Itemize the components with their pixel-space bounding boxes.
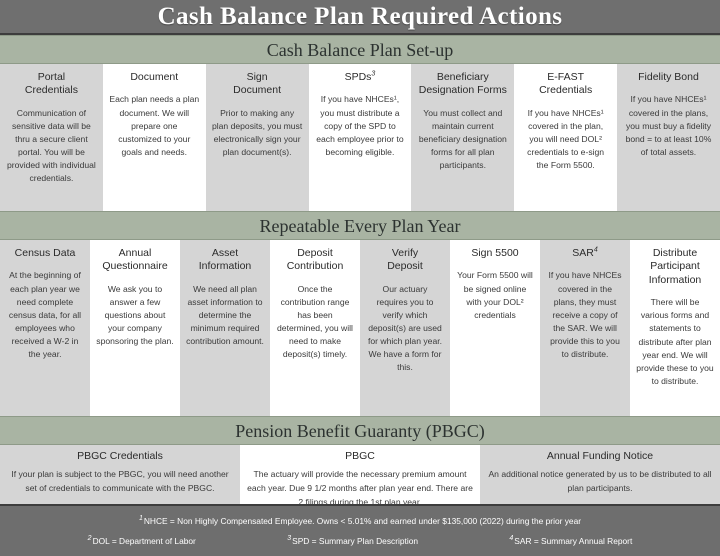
card-body-text: Our actuary requires you to verify which… [366,283,444,374]
card-title: Annual Funding Notice [486,450,714,463]
card-title: Verify Deposit [366,247,444,274]
card-body-text: If your plan is subject to the PBGC, you… [6,468,234,496]
card-body-text: Each plan needs a plan document. We will… [109,93,200,158]
section-header-3: Pension Benefit Guaranty (PBGC) [0,416,720,445]
footnote-line-secondary: 2DOL = Department of Labor 3SPD = Summar… [0,537,720,545]
card-title-text: Annual Funding Notice [547,450,653,462]
action-card[interactable]: Deposit ContributionOnce the contributio… [270,240,360,416]
card-title: Document [109,71,200,84]
card-title-superscript: 4 [594,247,598,254]
card-body-text: Prior to making any plan deposits, you m… [212,107,303,159]
card-title-text: E-FAST Credentials [539,71,592,96]
action-card[interactable]: Distribute Participant InformationThere … [630,240,720,416]
card-title: Sign Document [212,71,303,98]
card-title: E-FAST Credentials [520,71,611,98]
action-card[interactable]: Verify DepositOur actuary requires you t… [360,240,450,416]
card-title-text: Document [130,71,178,83]
footnote-text: SPD = Summary Plan Description [292,536,418,546]
card-title: Fidelity Bond [623,71,714,84]
card-body-text: If you have NHCEs covered in the plans, … [546,269,624,360]
footnote-item-sar: 4SAR = Summary Annual Report [509,537,632,545]
card-body-text: Your Form 5500 will be signed online wit… [456,269,534,321]
footnote-text: SAR = Summary Annual Report [514,536,632,546]
card-body-text: We ask you to answer a few questions abo… [96,283,174,348]
infographic-page: Cash Balance Plan Required Actions Cash … [0,0,720,556]
footnote-text: NHCE = Non Highly Compensated Employee. … [144,516,581,526]
card-title-text: PBGC [345,450,375,462]
section-header-2: Repeatable Every Plan Year [0,211,720,240]
action-card[interactable]: Beneficiary Designation FormsYou must co… [411,64,514,211]
footnote-item-dol: 2DOL = Department of Labor [88,537,196,545]
card-body-text: If you have NHCEs¹ covered in the plan, … [520,107,611,172]
footnotes-bar: 1NHCE = Non Highly Compensated Employee.… [0,504,720,556]
card-row-2: Census DataAt the beginning of each plan… [0,240,720,416]
card-body-text: If you have NHCEs¹ covered in the plans,… [623,93,714,158]
card-title-text: Verify Deposit [387,247,423,272]
card-title-text: Sign 5500 [471,247,518,259]
card-title: SAR4 [546,247,624,260]
card-title-text: Distribute Participant Information [649,247,702,286]
card-title-text: Fidelity Bond [638,71,699,83]
footnote-line-primary: 1NHCE = Non Highly Compensated Employee.… [0,517,720,536]
card-body-text: An additional notice generated by us to … [486,468,714,496]
card-title-text: SAR [572,247,594,259]
card-title-text: Asset Information [199,247,252,272]
card-title-text: Beneficiary Designation Forms [419,71,507,96]
card-body-text: If you have NHCEs¹, you must distribute … [315,93,406,158]
action-card[interactable]: Asset InformationWe need all plan asset … [180,240,270,416]
card-title: Sign 5500 [456,247,534,260]
card-title: PBGC [246,450,474,463]
card-title: PBGC Credentials [6,450,234,463]
action-card[interactable]: Census DataAt the beginning of each plan… [0,240,90,416]
card-title-text: SPDs [345,71,372,83]
footnote-item-spd: 3SPD = Summary Plan Description [287,537,418,545]
footnote-item-nhce: 1NHCE = Non Highly Compensated Employee.… [139,516,581,526]
card-title: SPDs3 [315,71,406,84]
card-body-text: We need all plan asset information to de… [186,283,264,348]
card-row-1: Portal CredentialsCommunication of sensi… [0,64,720,211]
page-title: Cash Balance Plan Required Actions [158,4,563,29]
card-title-text: PBGC Credentials [77,450,163,462]
card-title: Deposit Contribution [276,247,354,274]
section-heading: Repeatable Every Plan Year [260,217,461,235]
card-title-text: Portal Credentials [25,71,78,96]
sections-container: Cash Balance Plan Set-upPortal Credentia… [0,35,720,515]
card-title: Distribute Participant Information [636,247,714,287]
card-title: Asset Information [186,247,264,274]
page-title-bar: Cash Balance Plan Required Actions [0,0,720,35]
card-title: Census Data [6,247,84,260]
card-title: Annual Questionnaire [96,247,174,274]
card-title-text: Census Data [15,247,76,259]
card-title-text: Sign Document [233,71,281,96]
card-body-text: You must collect and maintain current be… [417,107,508,172]
card-title-text: Deposit Contribution [287,247,344,272]
card-title-superscript: 3 [371,71,375,78]
section-header-1: Cash Balance Plan Set-up [0,35,720,64]
card-body-text: There will be various forms and statemen… [636,296,714,387]
footnote-text: DOL = Department of Labor [93,536,196,546]
action-card[interactable]: E-FAST CredentialsIf you have NHCEs¹ cov… [514,64,617,211]
card-body-text: Communication of sensitive data will be … [6,107,97,185]
action-card[interactable]: SAR4If you have NHCEs covered in the pla… [540,240,630,416]
card-title: Beneficiary Designation Forms [417,71,508,98]
action-card[interactable]: Fidelity BondIf you have NHCEs¹ covered … [617,64,720,211]
action-card[interactable]: SPDs3If you have NHCEs¹, you must distri… [309,64,412,211]
section-heading: Cash Balance Plan Set-up [267,41,453,59]
action-card[interactable]: DocumentEach plan needs a plan document.… [103,64,206,211]
card-title: Portal Credentials [6,71,97,98]
card-body-text: Once the contribution range has been det… [276,283,354,361]
action-card[interactable]: Portal CredentialsCommunication of sensi… [0,64,103,211]
action-card[interactable]: Sign 5500Your Form 5500 will be signed o… [450,240,540,416]
section-heading: Pension Benefit Guaranty (PBGC) [235,422,484,440]
card-title-text: Annual Questionnaire [102,247,167,272]
card-body-text: At the beginning of each plan year we ne… [6,269,84,360]
action-card[interactable]: Sign DocumentPrior to making any plan de… [206,64,309,211]
action-card[interactable]: Annual QuestionnaireWe ask you to answer… [90,240,180,416]
